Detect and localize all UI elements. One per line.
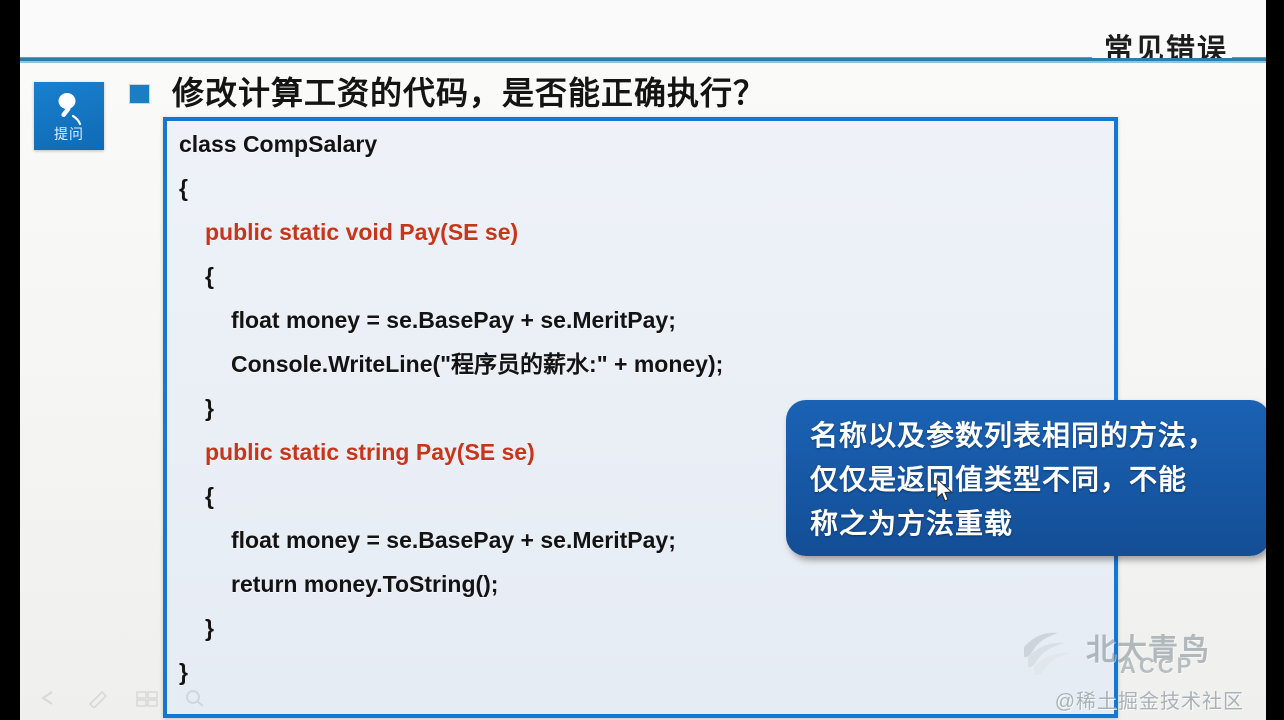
brand-logo: 北大青鸟 ACCP bbox=[1020, 625, 1250, 681]
code-line: return money.ToString(); bbox=[179, 573, 1106, 617]
ask-question-badge: 提问 bbox=[34, 82, 104, 150]
mouse-cursor-icon bbox=[936, 478, 954, 509]
presentation-slide: 常见错误 提问 修改计算工资的代码，是否能正确执行？ class CompSal… bbox=[20, 0, 1266, 720]
zoom-icon[interactable] bbox=[182, 688, 208, 708]
code-line: } bbox=[179, 617, 1106, 661]
title-bullet-square bbox=[130, 85, 149, 103]
slide-header: 常见错误 bbox=[20, 0, 1266, 62]
code-line: public static void Pay(SE se) bbox=[179, 221, 1106, 265]
ask-badge-label: 提问 bbox=[34, 124, 104, 144]
bird-logo-icon bbox=[1020, 625, 1090, 675]
header-rule-secondary bbox=[20, 61, 1266, 63]
previous-arrow-icon[interactable] bbox=[38, 688, 64, 708]
callout-line: 称之为方法重载 bbox=[810, 502, 1250, 546]
slide-title: 修改计算工资的代码，是否能正确执行？ bbox=[172, 74, 766, 112]
slides-grid-icon[interactable] bbox=[134, 688, 160, 708]
code-line: { bbox=[179, 265, 1106, 309]
callout-line: 名称以及参数列表相同的方法， bbox=[810, 414, 1250, 458]
code-line: Console.WriteLine("程序员的薪水:" + money); bbox=[179, 353, 1106, 397]
callout-line: 仅仅是返回值类型不同，不能 bbox=[810, 458, 1250, 502]
watermark-text: @稀土掘金技术社区 bbox=[1055, 685, 1244, 714]
explanation-callout: 名称以及参数列表相同的方法，仅仅是返回值类型不同，不能称之为方法重载 bbox=[786, 400, 1266, 556]
code-line: float money = se.BasePay + se.MeritPay; bbox=[179, 309, 1106, 353]
brand-name-en: ACCP bbox=[1120, 653, 1194, 679]
code-line: } bbox=[179, 661, 1106, 705]
pen-icon[interactable] bbox=[86, 688, 112, 708]
code-line: { bbox=[179, 177, 1106, 221]
code-line: class CompSalary bbox=[179, 133, 1106, 177]
slideshow-controls[interactable] bbox=[38, 688, 208, 708]
video-player-frame: 常见错误 提问 修改计算工资的代码，是否能正确执行？ class CompSal… bbox=[0, 0, 1284, 720]
